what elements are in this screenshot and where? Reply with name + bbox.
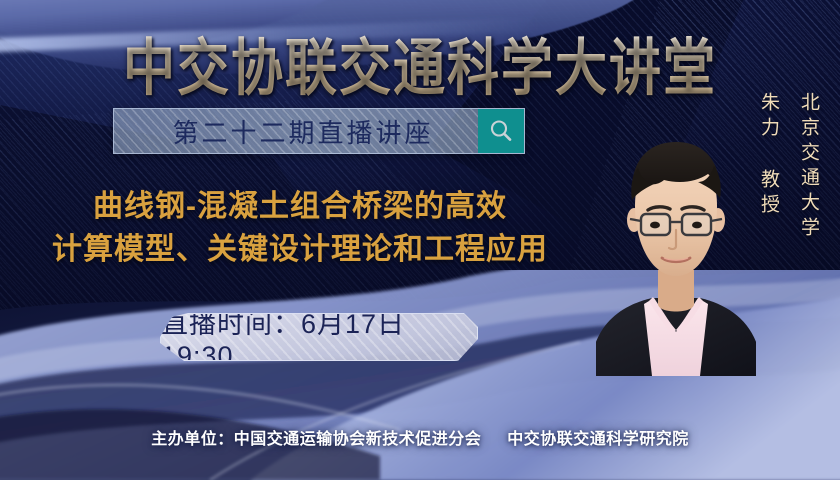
- footer-organizers: 主办单位：中国交通运输协会新技术促进分会中交协联交通科学研究院: [0, 425, 840, 449]
- speaker-portrait-illustration: [596, 126, 756, 376]
- speaker-portrait: [596, 126, 756, 376]
- footer-organizer-secondary: 中交协联交通科学研究院: [507, 431, 689, 448]
- lecture-topic-line2: 计算模型、关键设计理论和工程应用: [0, 229, 600, 272]
- subtitle-banner[interactable]: 第二十二期直播讲座: [113, 108, 525, 154]
- lecture-poster: 中交协联交通科学大讲堂 中交协联交通科学大讲堂 第二十二期直播讲座 曲线钢-混凝…: [0, 0, 840, 480]
- broadcast-time-label: 直播时间：6月17日19:30: [161, 313, 477, 361]
- speaker-name: 朱力 教授: [755, 92, 782, 219]
- speaker-affiliation: 北京交通大学: [795, 92, 822, 242]
- lecture-topic-line1: 曲线钢-混凝土组合桥梁的高效: [0, 186, 600, 229]
- search-icon-glyph: [488, 118, 514, 144]
- footer-organizer-primary: 主办单位：中国交通运输协会新技术促进分会: [151, 431, 481, 448]
- search-icon[interactable]: [478, 109, 524, 153]
- lecture-topic: 曲线钢-混凝土组合桥梁的高效 计算模型、关键设计理论和工程应用: [0, 186, 600, 271]
- subtitle-banner-label: 第二十二期直播讲座: [114, 109, 478, 153]
- page-title: 中交协联交通科学大讲堂: [0, 18, 840, 106]
- broadcast-time-badge: 直播时间：6月17日19:30: [160, 313, 478, 361]
